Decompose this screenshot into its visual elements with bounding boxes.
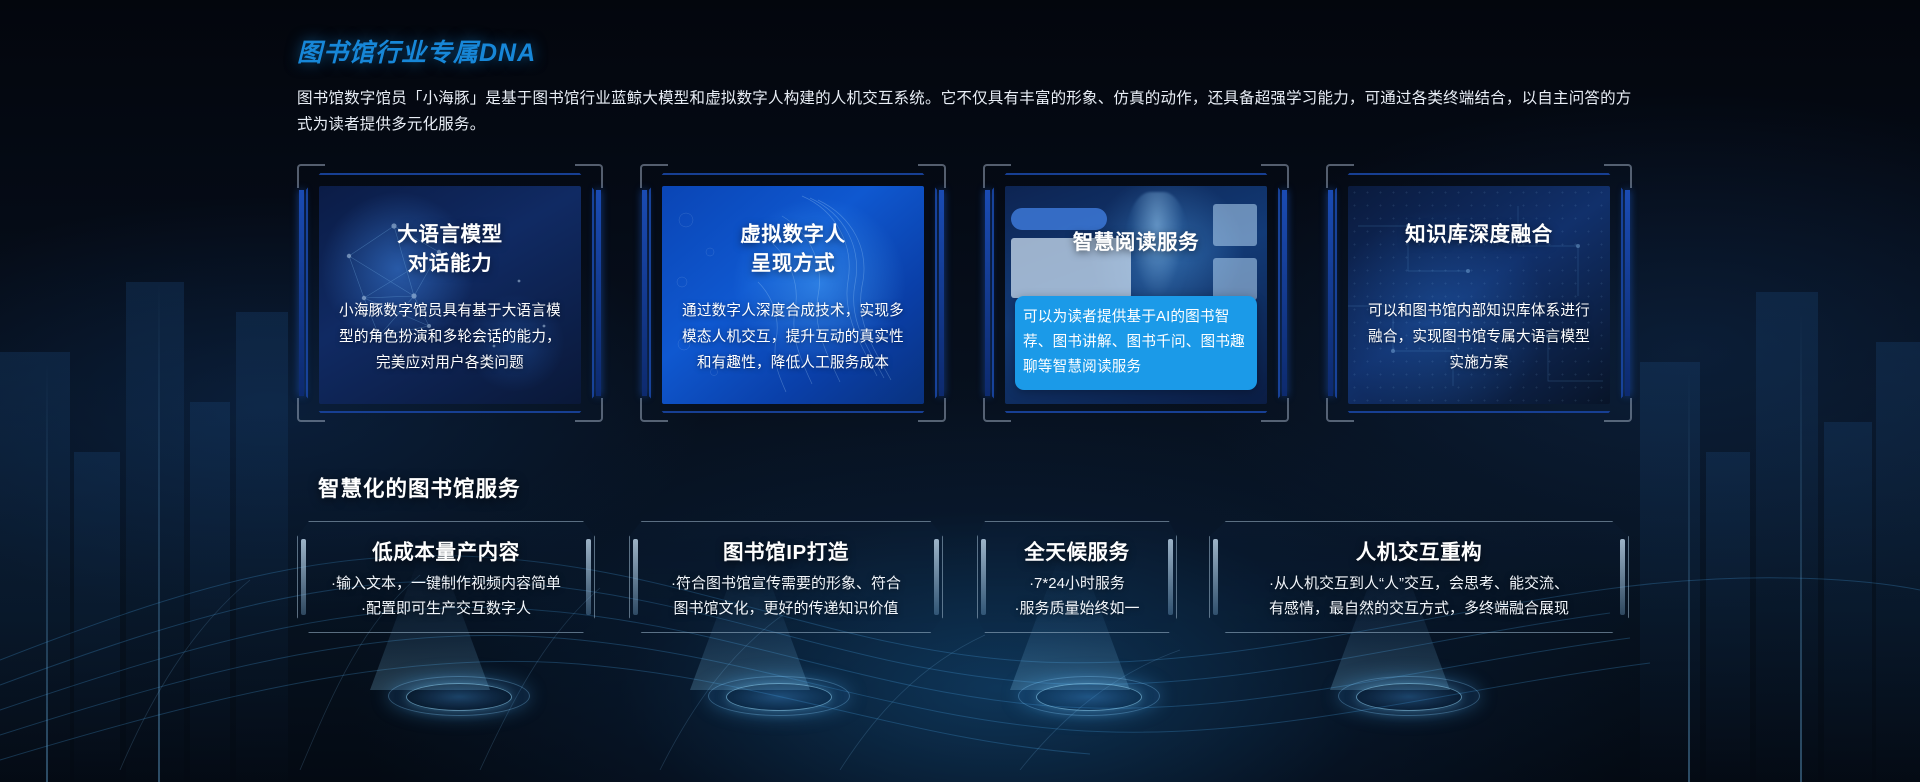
chat-bubble-thumb [1011, 208, 1107, 230]
card-artwork: 大语言模型 对话能力 小海豚数字馆员具有基于大语言模型的角色扮演和多轮会话的能力… [319, 186, 581, 404]
feature-card-title: 大语言模型 对话能力 [319, 220, 581, 278]
service-card-body: ·7*24小时服务 ·服务质量始终如一 [993, 571, 1161, 621]
page-title: 图书馆行业专属DNA [297, 33, 536, 69]
feature-card[interactable]: 虚拟数字人 呈现方式 通过数字人深度合成技术，实现多模态人机交互，提升互动的真实… [640, 164, 946, 422]
hero-slide: 图书馆行业专属DNA 图书馆数字馆员「小海豚」是基于图书馆行业蓝鲸大模型和虚拟数… [0, 0, 1920, 782]
feature-card-body: 通过数字人深度合成技术，实现多模态人机交互，提升互动的真实性和有趣性，降低人工服… [676, 298, 910, 376]
service-card-body: ·符合图书馆宣传需要的形象、符合 图书馆文化，更好的传递知识价值 [645, 571, 927, 621]
service-card[interactable]: 全天候服务 ·7*24小时服务 ·服务质量始终如一 [977, 521, 1177, 633]
feature-card-title: 虚拟数字人 呈现方式 [662, 220, 924, 278]
service-card-title: 图书馆IP打造 [629, 535, 943, 565]
service-card[interactable]: 低成本量产内容 ·输入文本，一键制作视频内容简单 ·配置即可生产交互数字人 [297, 521, 595, 633]
feature-card-body: 可以为读者提供基于AI的图书智荐、图书讲解、图书千问、图书趣聊等智慧阅读服务 [1015, 296, 1257, 390]
feature-card-title: 知识库深度融合 [1348, 220, 1610, 249]
card-artwork: 知识库深度融合 可以和图书馆内部知识库体系进行融合，实现图书馆专属大语言模型实施… [1348, 186, 1610, 404]
service-card-row: 低成本量产内容 ·输入文本，一键制作视频内容简单 ·配置即可生产交互数字人 图书… [297, 521, 1637, 643]
feature-card-row: 大语言模型 对话能力 小海豚数字馆员具有基于大语言模型的角色扮演和多轮会话的能力… [297, 164, 1630, 422]
service-card[interactable]: 图书馆IP打造 ·符合图书馆宣传需要的形象、符合 图书馆文化，更好的传递知识价值 [629, 521, 943, 633]
feature-card[interactable]: 智慧阅读服务 可以为读者提供基于AI的图书智荐、图书讲解、图书千问、图书趣聊等智… [983, 164, 1289, 422]
feature-card[interactable]: 大语言模型 对话能力 小海豚数字馆员具有基于大语言模型的角色扮演和多轮会话的能力… [297, 164, 603, 422]
section-subtitle: 智慧化的图书馆服务 [318, 472, 521, 503]
service-card[interactable]: 人机交互重构 ·从人机交互到人“人”交互，会思考、能交流、 有感情，最自然的交互… [1209, 521, 1629, 633]
card-artwork: 虚拟数字人 呈现方式 通过数字人深度合成技术，实现多模态人机交互，提升互动的真实… [662, 186, 924, 404]
feature-card-body: 可以和图书馆内部知识库体系进行融合，实现图书馆专属大语言模型实施方案 [1362, 298, 1596, 376]
service-card-title: 人机交互重构 [1209, 535, 1629, 565]
card-artwork: 智慧阅读服务 可以为读者提供基于AI的图书智荐、图书讲解、图书千问、图书趣聊等智… [1005, 186, 1267, 404]
service-card-body: ·输入文本，一键制作视频内容简单 ·配置即可生产交互数字人 [313, 571, 579, 621]
feature-card[interactable]: 知识库深度融合 可以和图书馆内部知识库体系进行融合，实现图书馆专属大语言模型实施… [1326, 164, 1632, 422]
intro-paragraph: 图书馆数字馆员「小海豚」是基于图书馆行业蓝鲸大模型和虚拟数字人构建的人机交互系统… [297, 86, 1642, 138]
service-card-body: ·从人机交互到人“人”交互，会思考、能交流、 有感情，最自然的交互方式，多终端融… [1225, 571, 1613, 621]
feature-card-body: 小海豚数字馆员具有基于大语言模型的角色扮演和多轮会话的能力，完美应对用户各类问题 [333, 298, 567, 376]
book-icon-tile [1213, 258, 1257, 300]
feature-card-title: 智慧阅读服务 [1005, 228, 1267, 257]
service-card-title: 低成本量产内容 [297, 535, 595, 565]
service-card-title: 全天候服务 [977, 535, 1177, 565]
